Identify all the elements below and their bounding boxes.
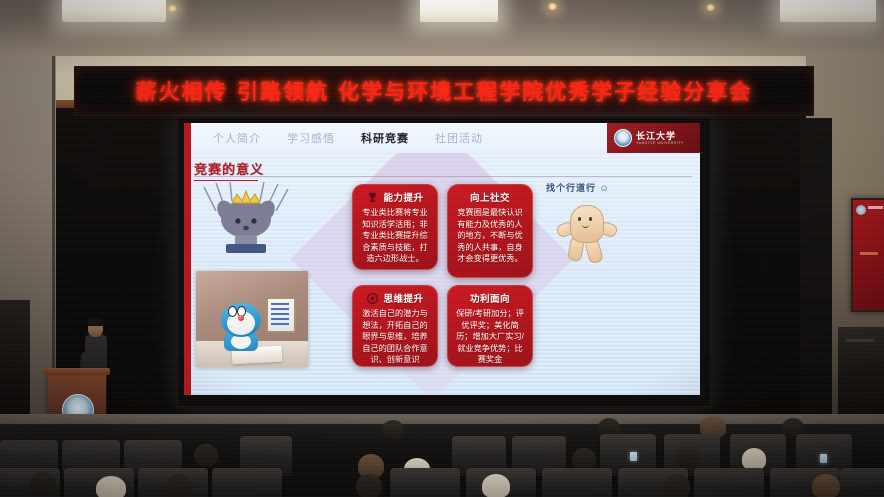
card-social-header: 向上社交: [470, 190, 510, 204]
ceiling: [0, 0, 884, 58]
ceiling-downlight: [706, 4, 715, 11]
auditorium-seat: [840, 468, 884, 497]
card-mind-body: 激活自己的潜力与想法，开拓自己的眼界与思维，培养自己的团队合作意识、创新意识: [359, 308, 431, 366]
card-mind-header: 思维提升: [383, 291, 423, 305]
slide-tab-personal[interactable]: 个人简介: [213, 130, 261, 146]
audience-phone-screen: [630, 452, 637, 461]
university-name-en: YANGTZE UNIVERSITY: [636, 141, 684, 146]
auditorium-seat: [542, 468, 612, 497]
audience-member: [96, 476, 126, 497]
target-icon: [366, 292, 379, 305]
card-ability-header: 能力提升: [383, 190, 423, 204]
right-wall-dark-panel: [800, 118, 832, 428]
auditorium-seat: [212, 468, 282, 497]
projection-screen: 个人简介 学习感悟 科研竞赛 社团活动 长江大学 YANGTZE UNIVERS…: [176, 116, 712, 408]
card-social: 向上社交 竞赛圈是最快认识有能力及优秀的人的地方，不断与优秀的人共事，自身才会变…: [447, 184, 533, 278]
audience-seating: [0, 424, 884, 497]
audience-member: [30, 472, 56, 496]
audience-member: [676, 446, 700, 468]
university-logo: 长江大学 YANGTZE UNIVERSITY: [607, 123, 700, 153]
ceiling-light-panel: [62, 0, 166, 22]
podium-top: [44, 368, 110, 375]
slide-title: 竞赛的意义: [194, 159, 264, 181]
crowned-critter-illustration: [202, 181, 290, 255]
audience-member: [482, 474, 510, 497]
audience-member: [382, 420, 404, 440]
led-banner: 薪火相传 引路领航 化学与环境工程学院优秀学子经验分享会: [74, 66, 814, 116]
audience-phone-screen: [820, 454, 827, 463]
card-social-body: 竞赛圈是最快认识有能力及优秀的人的地方，不断与优秀的人共事，自身才会变得更优秀。: [454, 207, 526, 265]
slide-tab-research[interactable]: 科研竞赛: [361, 130, 409, 146]
auditorium-seat: [390, 468, 460, 497]
audience-member: [194, 444, 218, 466]
slide-left-accent-bar: [184, 123, 191, 395]
audience-member: [572, 448, 596, 470]
ceiling-light-panel: [420, 0, 498, 22]
slide-title-divider: [194, 176, 692, 177]
slide-nav-bar: 个人简介 学习感悟 科研竞赛 社团活动 长江大学 YANGTZE UNIVERS…: [191, 123, 700, 153]
speaker-hair: [87, 318, 104, 326]
trophy-icon: [366, 191, 379, 204]
card-mind: 思维提升 激活自己的潜力与想法，开拓自己的眼界与思维，培养自己的团队合作意识、创…: [352, 285, 438, 367]
card-utility: 功利面向 保研/考研加分；评优评奖；美化简历；增加大厂实习/就业竞争优势；比赛奖…: [447, 285, 533, 367]
ceiling-downlight: [168, 5, 177, 12]
audience-member: [166, 474, 192, 497]
screen-letterbox: [184, 395, 700, 401]
audience-member: [356, 474, 382, 497]
left-loudspeaker: [0, 300, 30, 430]
poster-emblem-icon: [856, 205, 866, 215]
slide-tab-club[interactable]: 社团活动: [435, 130, 483, 146]
ceiling-light-panel: [780, 0, 876, 22]
slide-title-underline: [194, 180, 258, 181]
university-emblem-icon: [614, 129, 632, 147]
ceiling-downlight: [548, 3, 557, 10]
doraemon-study-photo: [196, 271, 308, 367]
university-name-cn: 长江大学: [636, 131, 684, 141]
audience-member: [742, 448, 766, 470]
auditorium-photo: 薪火相传 引路领航 化学与环境工程学院优秀学子经验分享会 个人简介 学习感悟 科…: [0, 0, 884, 497]
audience-member: [812, 474, 840, 497]
led-banner-text: 薪火相传 引路领航 化学与环境工程学院优秀学子经验分享会: [136, 76, 753, 106]
audience-member: [664, 474, 690, 497]
slide-tab-learning[interactable]: 学习感悟: [287, 130, 335, 146]
poster-title-line: [868, 206, 883, 209]
card-utility-header: 功利面向: [470, 291, 510, 305]
card-ability: 能力提升 专业类比赛将专业知识活学活用；非专业类比赛提升综合素质与技能，打造六边…: [352, 184, 438, 270]
side-wall-poster: [851, 198, 884, 312]
card-ability-body: 专业类比赛将专业知识活学活用；非专业类比赛提升综合素质与技能，打造六边形战士。: [359, 207, 431, 265]
presentation-slide: 个人简介 学习感悟 科研竞赛 社团活动 长江大学 YANGTZE UNIVERS…: [184, 123, 700, 395]
poster-body-line: [860, 252, 878, 255]
bread-mascot-illustration: 找个行道行 ☺: [556, 199, 618, 271]
auditorium-seat: [694, 468, 764, 497]
picture-frame: [266, 297, 296, 333]
doraemon-figure: [218, 303, 264, 351]
slide-title-text: 竞赛的意义: [194, 159, 264, 178]
mascot-caption: 找个行道行 ☺: [546, 181, 610, 194]
card-utility-body: 保研/考研加分；评优评奖；美化简历；增加大厂实习/就业竞争优势；比赛奖金: [454, 308, 526, 366]
